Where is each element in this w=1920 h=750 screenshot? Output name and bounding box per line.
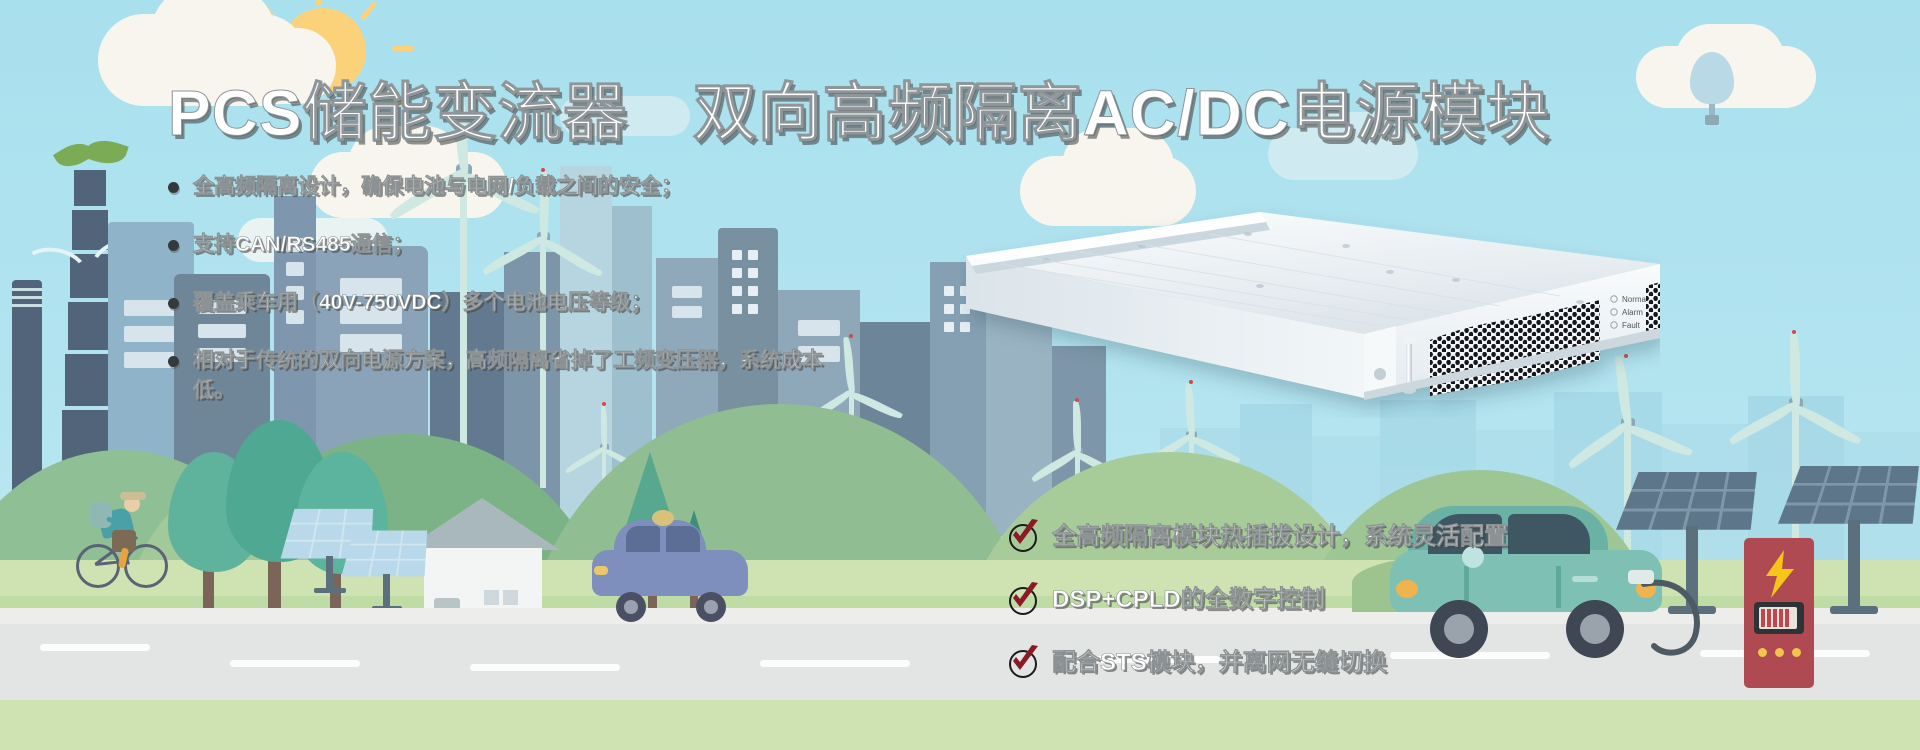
led-label-alarm: Alarm (1622, 308, 1643, 317)
highlight-text: DSP+CPLD的全数字控制 (1052, 579, 1325, 614)
highlight-list: 全高频隔离模块热插拔设计，系统灵活配置 DSP+CPLD的全数字控制 配合STS… (1008, 516, 1568, 705)
check-circle-icon (1008, 518, 1042, 550)
bullet-dot-icon (168, 240, 179, 251)
check-circle-icon (1008, 581, 1042, 613)
bullet-dot-icon (168, 356, 179, 367)
road-dash (760, 660, 910, 667)
road-dash (230, 660, 360, 667)
list-item: 支持CAN/RS485通信； (168, 230, 888, 260)
bullet-dot-icon (168, 298, 179, 309)
feature-text: 支持CAN/RS485通信； (193, 230, 414, 260)
promo-banner: Normal Alarm Fault PCS储能变流器 双向高频隔离AC/DC电… (0, 0, 1920, 750)
feature-list: 全高频隔离设计，确保电池与电网/负载之间的安全； 支持CAN/RS485通信； … (168, 172, 888, 434)
bullet-dot-icon (168, 182, 179, 193)
feature-text: 全高频隔离设计，确保电池与电网/负载之间的安全； (193, 172, 682, 202)
list-item: 相对于传统的双向电源方案，高频隔离省掉了工频变压器，系统成本低。 (168, 346, 888, 406)
page-title: PCS储能变流器 双向高频隔离AC/DC电源模块 (168, 62, 1550, 154)
feature-text: 相对于传统的双向电源方案，高频隔离省掉了工频变压器，系统成本低。 (193, 346, 853, 406)
road-dash (470, 664, 620, 671)
check-circle-icon (1008, 644, 1042, 676)
road-dash (40, 644, 150, 651)
list-item: DSP+CPLD的全数字控制 (1008, 579, 1568, 614)
list-item: 全高频隔离模块热插拔设计，系统灵活配置 (1008, 516, 1568, 551)
rack-mount-pcs-module: Normal Alarm Fault (960, 168, 1660, 408)
list-item: 配合STS模块，并离网无缝切换 (1008, 642, 1568, 677)
grass-foreground (0, 700, 1920, 750)
highlight-text: 全高频隔离模块热插拔设计，系统灵活配置 (1052, 516, 1508, 551)
list-item: 覆盖乘车用（40V-750VDC）多个电池电压等级； (168, 288, 888, 318)
led-label-fault: Fault (1622, 321, 1641, 330)
list-item: 全高频隔离设计，确保电池与电网/负载之间的安全； (168, 172, 888, 202)
road (0, 616, 1920, 702)
highlight-text: 配合STS模块，并离网无缝切换 (1052, 642, 1387, 677)
feature-text: 覆盖乘车用（40V-750VDC）多个电池电压等级； (193, 288, 652, 318)
led-label-normal: Normal (1622, 295, 1648, 304)
lightning-bolt-icon (1764, 550, 1798, 598)
